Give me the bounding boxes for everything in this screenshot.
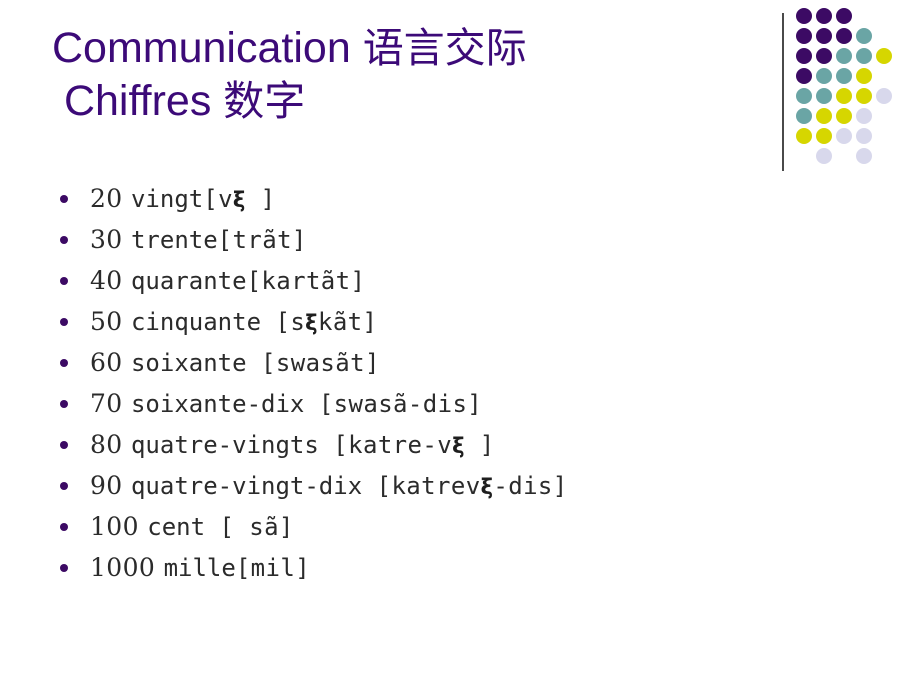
bullet-dot-icon [60, 564, 68, 572]
pronunciation-open: [katre-v [333, 431, 452, 459]
decoration-dot [796, 128, 812, 144]
pronunciation-open: [swasãt] [261, 349, 380, 377]
decoration-dot [876, 88, 892, 104]
pronunciation-xi-glyph: ξ [481, 475, 494, 499]
number-value: 70 [90, 389, 131, 418]
decoration-dot [816, 108, 832, 124]
pronunciation-open: [kartãt] [247, 267, 366, 295]
list-item: 60 soixante [swasãt] [56, 342, 756, 383]
bullet-dot-icon [60, 318, 68, 326]
pronunciation-close: -dis] [493, 472, 567, 500]
bullet-dot-icon [60, 441, 68, 449]
decoration-dot-matrix [778, 8, 896, 173]
number-value: 80 [90, 430, 131, 459]
french-word: quarante [131, 267, 247, 295]
number-value: 60 [90, 348, 131, 377]
list-item: 80 quatre-vingts [katre-vξ ] [56, 424, 756, 465]
decoration-dot [856, 128, 872, 144]
decoration-dot [836, 48, 852, 64]
title-line-1-cjk: 语言交际 [363, 24, 527, 72]
number-value: 50 [90, 307, 131, 336]
pronunciation-xi-glyph: ξ [233, 188, 246, 212]
french-word: vingt [131, 185, 203, 213]
french-word: soixante-dix [131, 390, 319, 418]
bullet-dot-icon [60, 195, 68, 203]
number-value: 30 [90, 225, 131, 254]
decoration-dot [796, 108, 812, 124]
number-value: 20 [90, 184, 131, 213]
decoration-dot [836, 8, 852, 24]
numbers-bullet-list: 20 vingt[vξ ]30 trente[trãt]40 quarante[… [56, 178, 756, 588]
pronunciation-open: [swasã-dis] [319, 390, 482, 418]
decoration-dot [816, 8, 832, 24]
french-word: mille [164, 554, 236, 582]
list-item: 30 trente[trãt] [56, 219, 756, 260]
pronunciation-close: kãt] [318, 308, 377, 336]
decoration-dot [796, 28, 812, 44]
page-title: Communication 语言交际 Chiffres 数字 [52, 22, 692, 128]
french-word: trente [131, 226, 218, 254]
decoration-dot [816, 148, 832, 164]
decoration-dot [876, 48, 892, 64]
french-word: cent [147, 513, 219, 541]
bullet-dot-icon [60, 482, 68, 490]
pronunciation-open: [ sã] [220, 513, 294, 541]
decoration-dot [856, 68, 872, 84]
title-line-2-cjk: 数字 [223, 77, 305, 125]
slide-canvas: Communication 语言交际 Chiffres 数字 20 vingt[… [0, 0, 900, 675]
list-item: 100 cent [ sã] [56, 506, 756, 547]
list-item-text: 30 trente[trãt] [90, 219, 307, 261]
decoration-dot [816, 28, 832, 44]
decoration-dot [856, 88, 872, 104]
decoration-dot [796, 48, 812, 64]
decoration-dot [856, 28, 872, 44]
decoration-dot [836, 68, 852, 84]
list-item-text: 50 cinquante [sξkãt] [90, 301, 377, 344]
number-value: 90 [90, 471, 131, 500]
pronunciation-xi-glyph: ξ [305, 311, 318, 335]
pronunciation-xi-glyph: ξ [452, 434, 465, 458]
list-item-text: 40 quarante[kartãt] [90, 260, 365, 302]
decoration-dot [836, 88, 852, 104]
decoration-dot [856, 48, 872, 64]
french-word: quatre-vingt-dix [131, 472, 377, 500]
decoration-dot [836, 108, 852, 124]
list-item-text: 100 cent [ sã] [90, 506, 294, 548]
decoration-dot [796, 68, 812, 84]
decoration-dot [836, 128, 852, 144]
decoration-dot [816, 48, 832, 64]
pronunciation-open: [katrev [377, 472, 481, 500]
decoration-dot [796, 88, 812, 104]
pronunciation-open: [mil] [236, 554, 310, 582]
list-item-text: 80 quatre-vingts [katre-vξ ] [90, 424, 495, 467]
decoration-dot [856, 108, 872, 124]
pronunciation-close: ] [246, 185, 276, 213]
list-item-text: 90 quatre-vingt-dix [katrevξ-dis] [90, 465, 568, 508]
pronunciation-open: [trãt] [218, 226, 307, 254]
bullet-dot-icon [60, 236, 68, 244]
list-item-text: 1000 mille[mil] [90, 547, 310, 589]
list-item: 90 quatre-vingt-dix [katrevξ-dis] [56, 465, 756, 506]
list-item: 40 quarante[kartãt] [56, 260, 756, 301]
decoration-dot [836, 28, 852, 44]
title-line-1: Communication 语言交际 [52, 22, 692, 75]
french-word: quatre-vingts [131, 431, 333, 459]
list-item-text: 60 soixante [swasãt] [90, 342, 380, 384]
list-item-text: 70 soixante-dix [swasã-dis] [90, 383, 482, 425]
decoration-dot [796, 8, 812, 24]
number-value: 100 [90, 512, 147, 541]
french-word: soixante [131, 349, 261, 377]
bullet-dot-icon [60, 523, 68, 531]
title-line-2-latin: Chiffres [52, 77, 223, 125]
decoration-dot [856, 148, 872, 164]
pronunciation-close: ] [465, 431, 495, 459]
title-line-1-latin: Communication [52, 24, 363, 72]
decoration-dot [816, 68, 832, 84]
vertical-rule-divider [782, 13, 784, 171]
number-value: 40 [90, 266, 131, 295]
list-item: 1000 mille[mil] [56, 547, 756, 588]
list-item: 20 vingt[vξ ] [56, 178, 756, 219]
pronunciation-open: [s [275, 308, 305, 336]
list-item-text: 20 vingt[vξ ] [90, 178, 275, 221]
number-value: 1000 [90, 553, 164, 582]
french-word: cinquante [131, 308, 276, 336]
title-line-2: Chiffres 数字 [52, 75, 692, 128]
bullet-dot-icon [60, 359, 68, 367]
bullet-dot-icon [60, 277, 68, 285]
pronunciation-open: [v [203, 185, 233, 213]
bullet-dot-icon [60, 400, 68, 408]
list-item: 70 soixante-dix [swasã-dis] [56, 383, 756, 424]
list-item: 50 cinquante [sξkãt] [56, 301, 756, 342]
decoration-dot [816, 88, 832, 104]
decoration-dot [816, 128, 832, 144]
dot-grid [796, 8, 896, 168]
